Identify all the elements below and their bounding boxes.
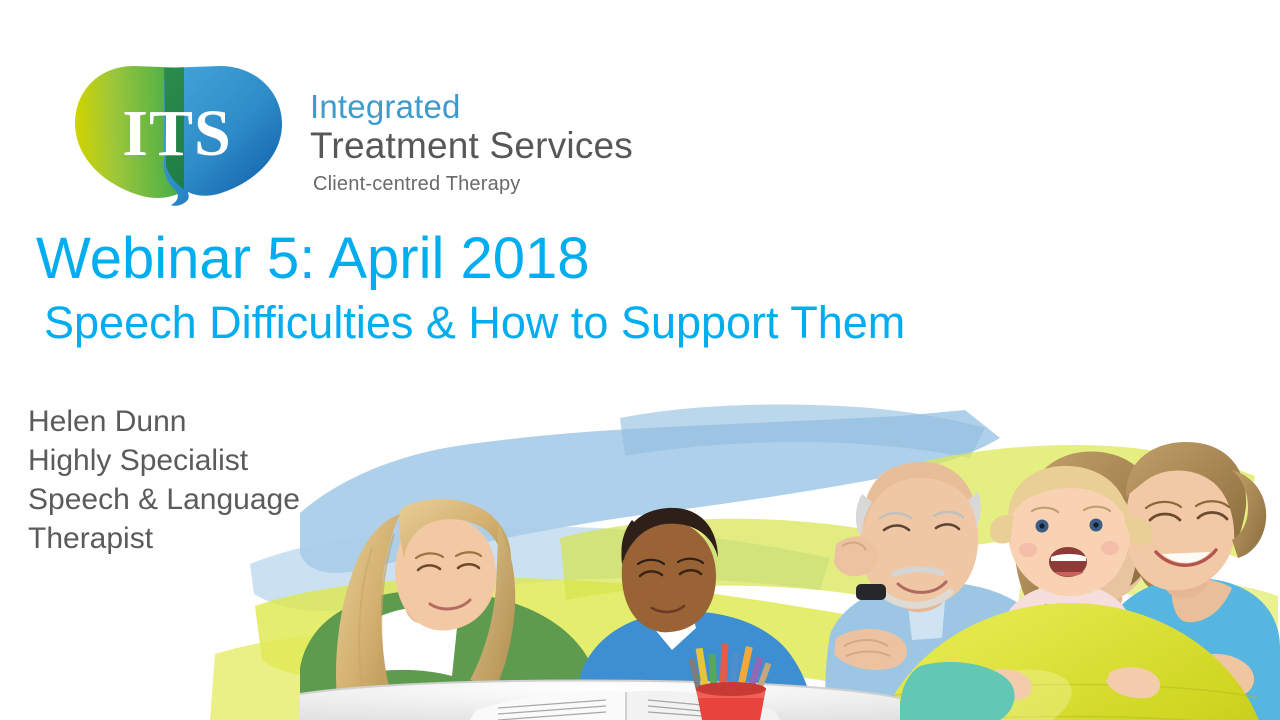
slide-subtitle: Speech Difficulties & How to Support The… — [44, 298, 905, 348]
presenter-block: Helen Dunn Highly Specialist Speech & La… — [28, 402, 300, 558]
presenter-role-line3: Therapist — [28, 519, 300, 558]
webinar-title-slide: ITS Integrated Treatment Services Client… — [0, 0, 1280, 720]
its-logo: ITS Integrated Treatment Services Client… — [72, 62, 712, 207]
logo-wordmark-line1: Integrated — [310, 88, 710, 125]
its-speech-bubble-heart-logo: ITS — [72, 62, 287, 207]
logo-wordmark: Integrated Treatment Services Client-cen… — [310, 88, 710, 197]
presenter-role-line1: Highly Specialist — [28, 441, 300, 480]
logo-tagline: Client-centred Therapy — [313, 171, 710, 197]
logo-wordmark-line2: Treatment Services — [310, 125, 710, 167]
presenter-role-line2: Speech & Language — [28, 480, 300, 519]
svg-text:ITS: ITS — [122, 97, 231, 170]
presenter-name: Helen Dunn — [28, 402, 300, 441]
slide-title: Webinar 5: April 2018 — [36, 228, 590, 290]
